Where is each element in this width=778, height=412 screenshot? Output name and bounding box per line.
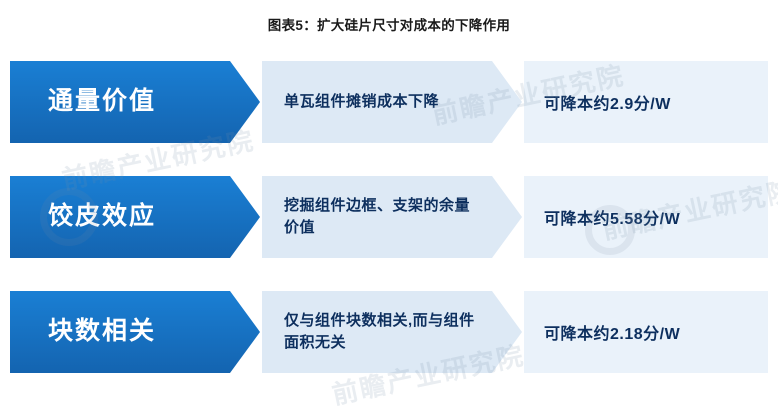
stage-result-box: 可降本约2.18分/W — [524, 291, 768, 373]
stage-driver-chevron: 通量价值 — [10, 61, 260, 143]
stage-mechanism-label: 仅与组件块数相关,而与组件面积无关 — [284, 310, 482, 354]
stage-result-label: 可降本约2.18分/W — [544, 320, 680, 344]
stage-driver-chevron: 饺皮效应 — [10, 176, 260, 258]
stage-mechanism-label: 单瓦组件摊销成本下降 — [284, 91, 439, 113]
stage-driver-chevron: 块数相关 — [10, 291, 260, 373]
stage-result-box: 可降本约2.9分/W — [524, 61, 768, 143]
stage-result-label: 可降本约2.9分/W — [544, 90, 671, 114]
diagram-row: 饺皮效应 挖掘组件边框、支架的余量价值 可降本约5.58分/W — [10, 176, 768, 258]
process-diagram: 通量价值 单瓦组件摊销成本下降 可降本约2.9分/W 饺皮效应 挖掘组件边框、支… — [0, 53, 778, 402]
stage-mechanism-label: 挖掘组件边框、支架的余量价值 — [284, 195, 482, 239]
stage-result-label: 可降本约5.58分/W — [544, 205, 680, 229]
page-title: 图表5：扩大硅片尺寸对成本的下降作用 — [0, 0, 778, 34]
stage-driver-label: 块数相关 — [48, 318, 156, 346]
diagram-row: 块数相关 仅与组件块数相关,而与组件面积无关 可降本约2.18分/W — [10, 291, 768, 373]
stage-driver-label: 饺皮效应 — [48, 203, 156, 231]
diagram-row: 通量价值 单瓦组件摊销成本下降 可降本约2.9分/W — [10, 61, 768, 143]
stage-mechanism-chevron: 单瓦组件摊销成本下降 — [262, 61, 522, 143]
stage-driver-label: 通量价值 — [48, 88, 156, 116]
stage-mechanism-chevron: 仅与组件块数相关,而与组件面积无关 — [262, 291, 522, 373]
stage-mechanism-chevron: 挖掘组件边框、支架的余量价值 — [262, 176, 522, 258]
stage-result-box: 可降本约5.58分/W — [524, 176, 768, 258]
